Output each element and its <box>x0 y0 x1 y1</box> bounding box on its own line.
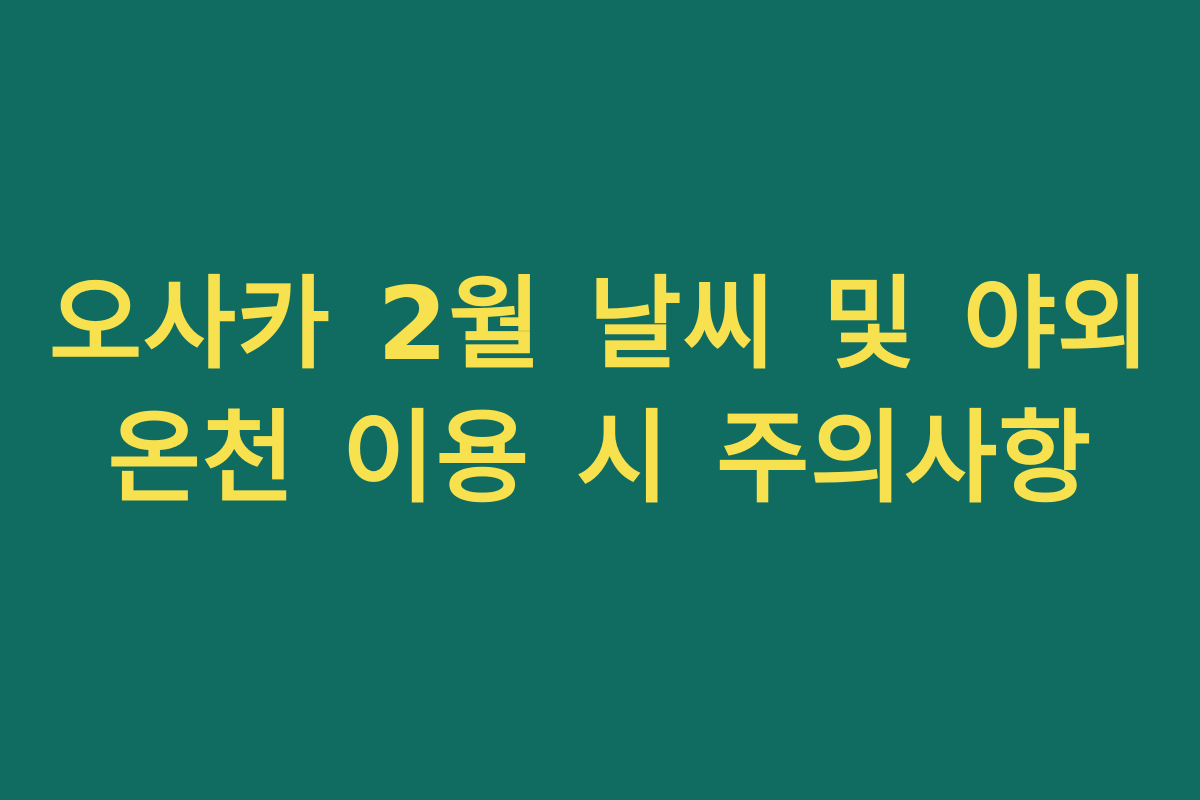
banner-title-line-2: 온천 이용 시 주의사항 <box>0 391 1200 525</box>
title-banner: 오사카 2월 날씨 및 야외 온천 이용 시 주의사항 <box>0 0 1200 800</box>
banner-title-line-1: 오사카 2월 날씨 및 야외 <box>0 257 1200 391</box>
banner-title: 오사카 2월 날씨 및 야외 온천 이용 시 주의사항 <box>0 257 1200 526</box>
